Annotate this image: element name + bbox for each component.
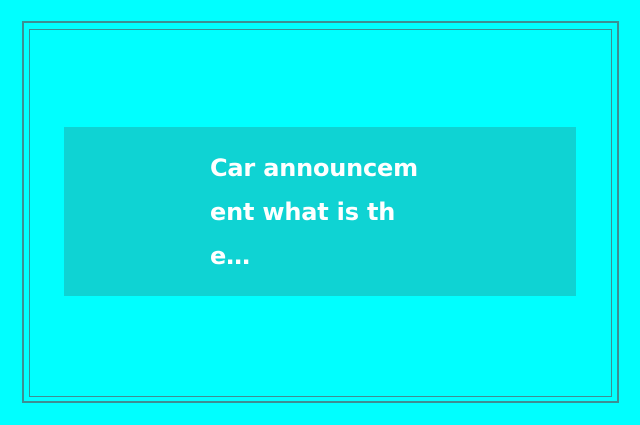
panel-title: Car announcement what is the… — [210, 146, 430, 278]
placeholder-card-canvas: Car announcement what is the… — [0, 0, 640, 425]
content-panel: Car announcement what is the… — [64, 127, 576, 296]
